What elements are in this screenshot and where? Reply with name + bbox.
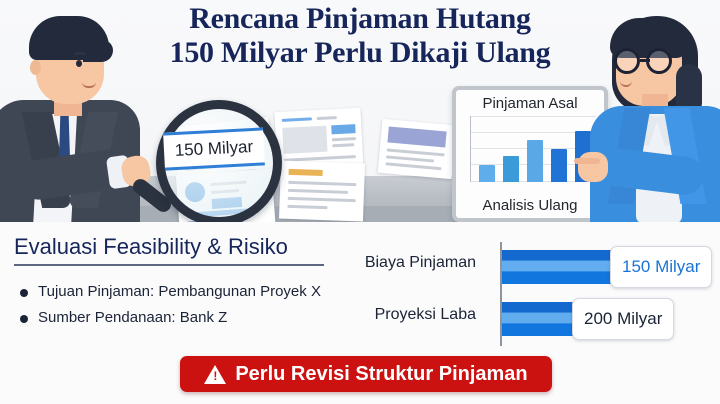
metric-label: Biaya Pinjaman — [365, 254, 476, 272]
section-heading: Evaluasi Feasibility & Risiko — [14, 234, 288, 260]
hero-illustration: 150 Milyar Pinjaman Asal Analisis Ulang — [0, 0, 720, 222]
left-person-ear — [30, 60, 41, 75]
section-heading-underline — [14, 264, 324, 266]
page-title-line-2: 150 Milyar Perlu Dikaji Ulang — [140, 36, 580, 70]
right-person-hand — [578, 152, 608, 182]
chart-footer-label: Analisis Ulang — [456, 197, 604, 214]
chart-bar — [503, 156, 519, 182]
list-item: Tujuan Pinjaman: Pembangunan Proyek X — [18, 283, 366, 300]
person-right-businesswoman — [586, 2, 720, 222]
right-person-fingers — [574, 158, 600, 164]
person-left-businessman — [0, 4, 146, 222]
page-title: Rencana Pinjaman Hutang 150 Milyar Perlu… — [140, 2, 580, 70]
metric-label: Proyeksi Laba — [375, 306, 476, 324]
bullet-list: Tujuan Pinjaman: Pembangunan Proyek X Su… — [18, 274, 366, 326]
warning-banner[interactable]: Perlu Revisi Struktur Pinjaman — [180, 356, 552, 392]
warning-banner-text: Perlu Revisi Struktur Pinjaman — [235, 363, 527, 386]
infographic-canvas: 150 Milyar Pinjaman Asal Analisis Ulang — [0, 0, 720, 404]
document-paper — [378, 119, 456, 179]
page-title-line-1: Rencana Pinjaman Hutang — [189, 2, 530, 35]
list-item: Sumber Pendanaan: Bank Z — [18, 309, 366, 326]
metric-value-badge: 200 Milyar — [572, 298, 674, 340]
left-person-eye — [76, 60, 82, 67]
chart-title: Pinjaman Asal — [456, 95, 604, 112]
chart-bar — [479, 165, 495, 182]
left-person-hair — [29, 16, 109, 60]
eyeglasses-icon — [614, 48, 640, 74]
metric-row: Proyeksi Laba 200 Milyar — [372, 294, 708, 346]
magnifier-callout-label: 150 Milyar — [163, 127, 265, 170]
chart-bar — [551, 149, 567, 182]
eyeglasses-bridge — [640, 59, 650, 62]
chart-plot-area — [470, 116, 596, 182]
chart-bar — [527, 140, 543, 182]
warning-triangle-icon — [204, 365, 226, 384]
metric-value-badge: 150 Milyar — [610, 246, 712, 288]
document-paper — [279, 161, 365, 222]
left-person-eyebrow — [74, 52, 86, 55]
metric-row: Biaya Pinjaman 150 Milyar — [372, 242, 708, 294]
metric-bar-chart: Biaya Pinjaman 150 Milyar Proyeksi Laba … — [372, 242, 708, 346]
